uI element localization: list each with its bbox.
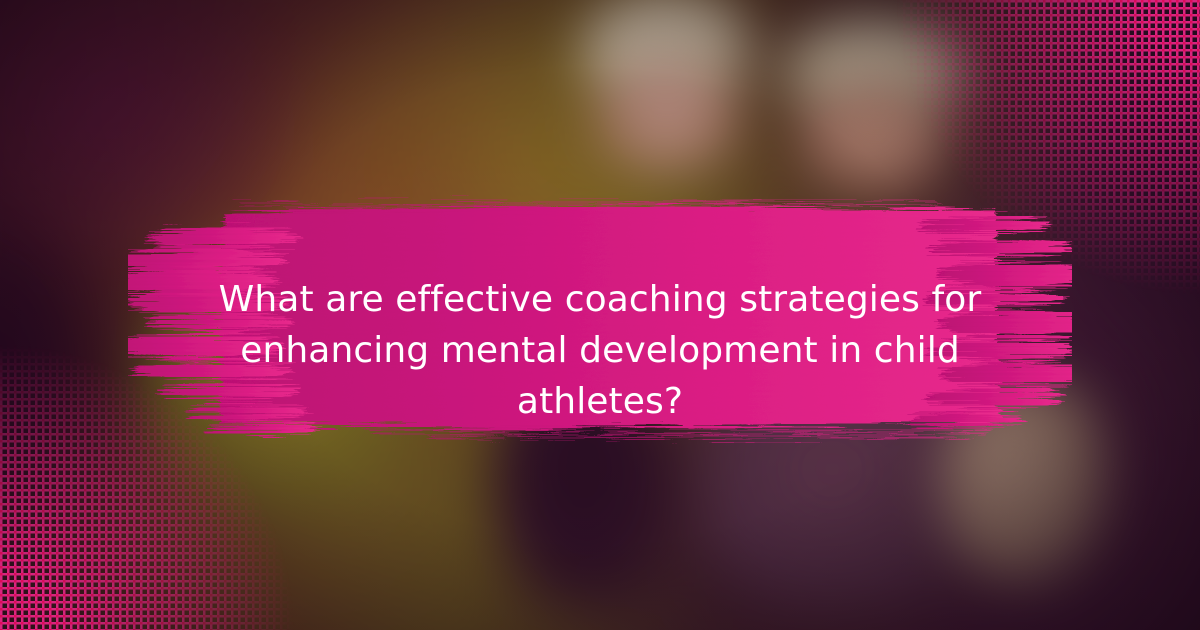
background-shape-face-left xyxy=(594,62,742,174)
background-shape-face-right xyxy=(796,80,956,190)
headline-text: What are effective coaching strategies f… xyxy=(160,274,1040,427)
social-card: What are effective coaching strategies f… xyxy=(0,0,1200,630)
